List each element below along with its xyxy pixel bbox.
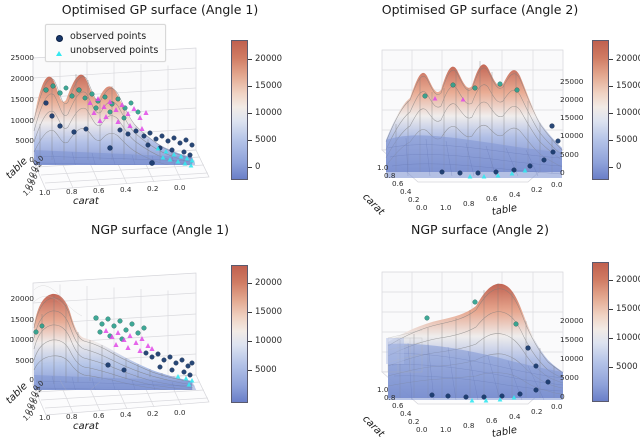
legend-item-unobserved: unobserved points <box>51 43 158 57</box>
legend: observed points unobserved points <box>45 24 166 62</box>
colorbar-ticks: 20000 15000 10000 5000 0 <box>609 40 640 180</box>
colorbar-gradient <box>231 265 248 403</box>
colorbar-gradient <box>592 262 609 402</box>
figure-canvas: Optimised GP surface (Angle 1) <box>0 0 640 439</box>
colorbar: 20000 15000 10000 5000 0 <box>231 40 306 180</box>
unobserved-point-marker-icon <box>51 41 67 60</box>
colorbar: 20000 15000 10000 5000 <box>592 262 640 402</box>
panel-ngp-angle-1: NGP surface (Angle 1) <box>0 220 320 439</box>
colorbar-ticks: 20000 15000 10000 5000 <box>609 262 640 402</box>
x-axis-label: carat <box>73 196 99 207</box>
colorbar: 20000 15000 10000 5000 <box>231 265 306 403</box>
colorbar: 20000 15000 10000 5000 0 <box>592 40 640 180</box>
x-axis-label: carat <box>73 421 99 432</box>
panel-optimised-gp-angle-2: Optimised GP surface (Angle 2) <box>320 0 640 219</box>
legend-item-observed: observed points <box>51 29 158 43</box>
panel-ngp-angle-2: NGP surface (Angle 2) <box>320 220 640 439</box>
colorbar-ticks: 20000 15000 10000 5000 0 <box>248 40 308 180</box>
colorbar-gradient <box>592 40 609 180</box>
colorbar-ticks: 20000 15000 10000 5000 <box>248 265 308 403</box>
colorbar-gradient <box>231 40 248 180</box>
panel-optimised-gp-angle-1: Optimised GP surface (Angle 1) <box>0 0 320 219</box>
